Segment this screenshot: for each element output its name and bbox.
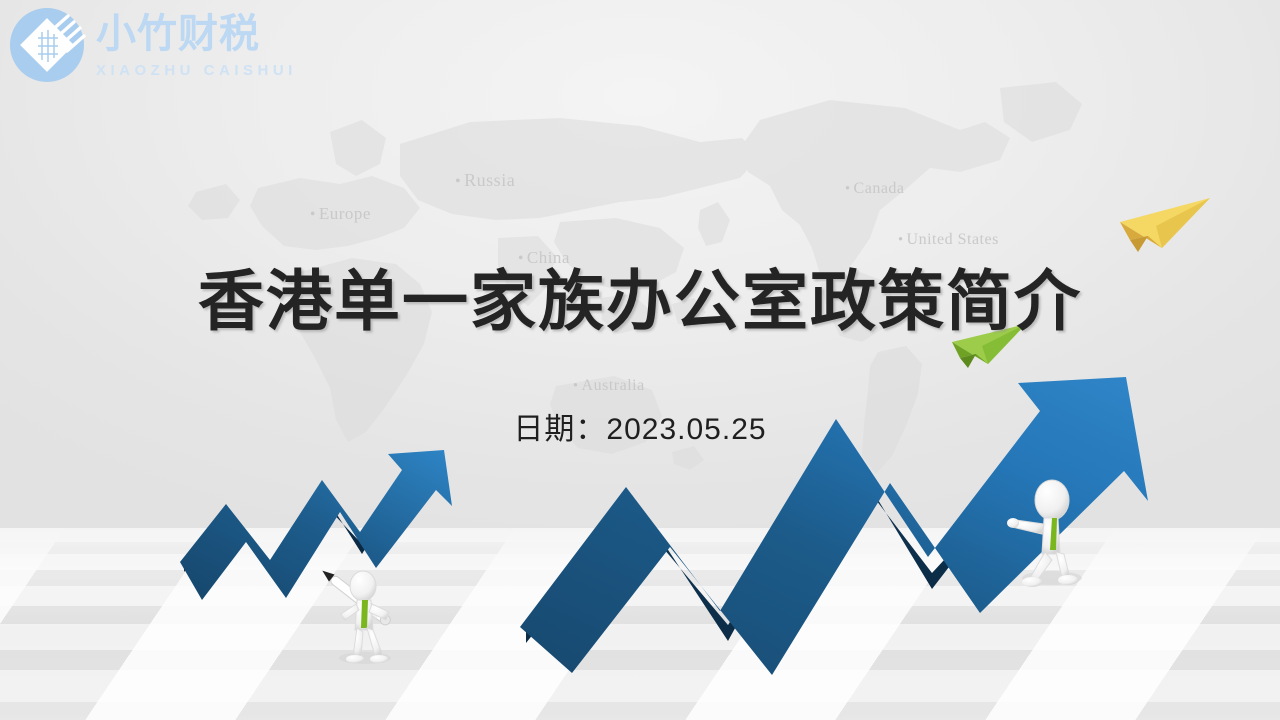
map-label-europe: Europe — [310, 204, 371, 224]
logo-name-en: XIAOZHU CAISHUI — [96, 63, 297, 78]
logo-name-cn: 小竹财税 — [96, 14, 297, 54]
brand-logo[interactable]: 小竹财税 XIAOZHU CAISHUI — [6, 4, 297, 86]
page-title: 香港单一家族办公室政策简介 — [0, 248, 1280, 344]
presentation-slide: Europe Russia China Canada United States… — [0, 0, 1280, 720]
map-label-canada: Canada — [845, 180, 905, 198]
slide-date: 日期：2023.05.25 — [0, 404, 1280, 448]
figure-with-pen-icon — [305, 552, 410, 667]
bamboo-circle-logo-icon — [6, 4, 88, 86]
map-label-united-states: United States — [898, 231, 999, 249]
pushing-figure-icon — [1000, 480, 1090, 615]
map-label-russia: Russia — [455, 170, 515, 191]
